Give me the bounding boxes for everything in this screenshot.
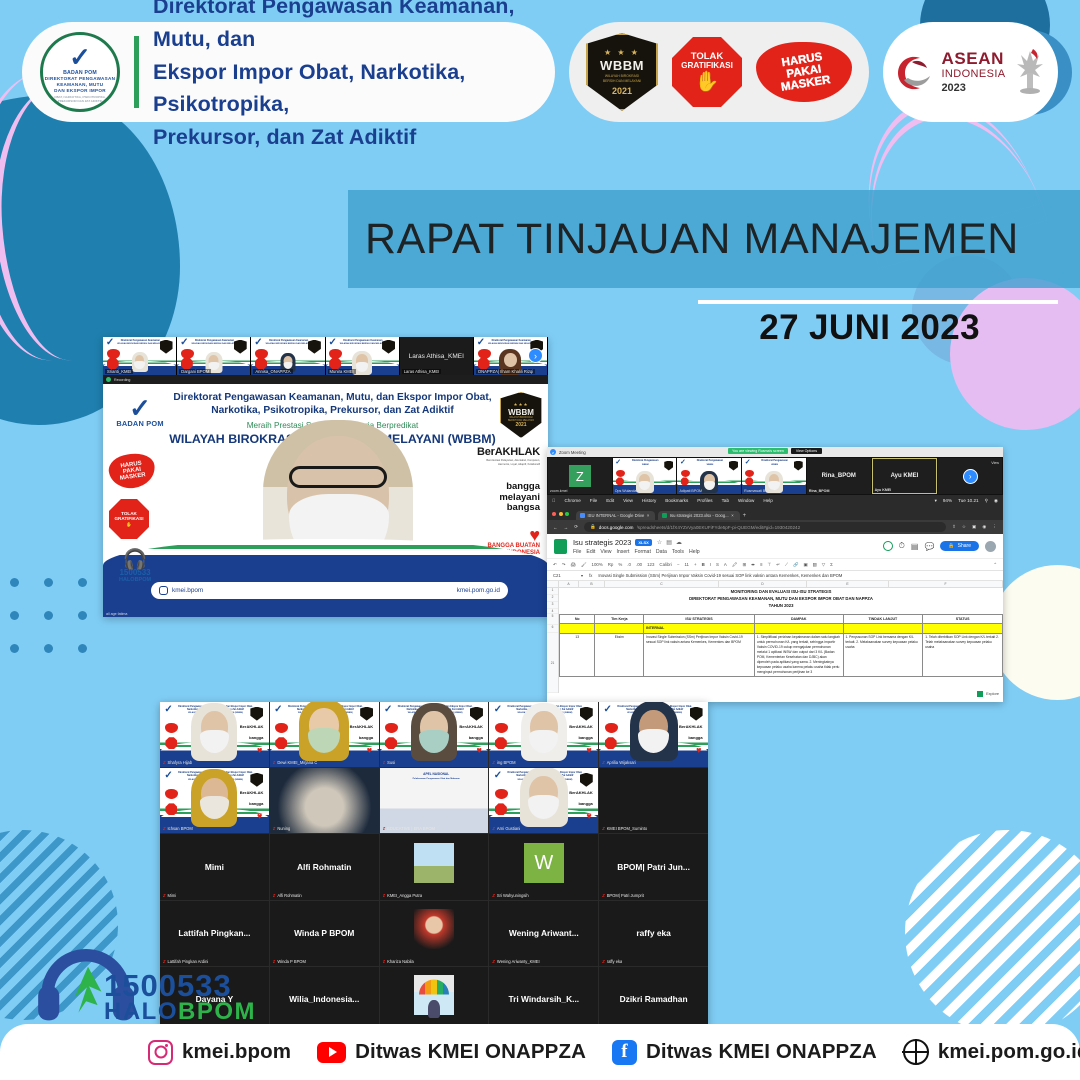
social-instagram[interactable]: kmei.bpom xyxy=(148,1040,291,1065)
asean-text-block: ASEAN INDONESIA 2023 xyxy=(941,50,1005,94)
avatar-letter: W xyxy=(524,843,564,883)
slide-footnote: all age fatima xyxy=(106,612,127,616)
participant-tile-no-video[interactable]: Laras Athisa_KMEI Laras Athisa_KMEI xyxy=(400,337,474,375)
text-wrap-icon[interactable]: ↵ xyxy=(776,562,780,568)
participant-tile-no-video[interactable]: Rina_BPOM Rina_BPOM xyxy=(807,458,871,494)
sheets-menu-tools[interactable]: Tools xyxy=(672,549,684,555)
glasses-icon xyxy=(289,466,387,488)
participant-name: Ayu KMEI xyxy=(875,488,892,492)
participant-tile[interactable]: Direktorat Pengawasan KeamananWILAYAH BI… xyxy=(103,337,177,375)
menu-edit[interactable]: Edit xyxy=(606,498,614,503)
participant-tile[interactable]: Direktorat Pengawasan Keamanan, Mutu, da… xyxy=(489,702,598,767)
participant-tile[interactable]: Direktorat Pengawasan KeamananWILAYAH BI… xyxy=(326,337,400,375)
zoom-gallery-strip: Z zoom.kmei Direktorat PengawasanWBBM✓ O… xyxy=(547,457,1003,495)
sidepanel-icon[interactable]: ▣ xyxy=(972,524,976,530)
avatar[interactable] xyxy=(985,541,996,552)
column-header-a[interactable]: A xyxy=(559,581,579,587)
participant-display-name: Mimi xyxy=(160,834,269,899)
date-rule xyxy=(698,300,1058,304)
explore-button[interactable]: Explore xyxy=(977,691,999,697)
participant-name: Adipati BPOM xyxy=(679,489,702,493)
facebook-handle: Ditwas KMEI ONAPPZA xyxy=(646,1040,877,1064)
harus-pakai-masker-badge-icon: HARUSPAKAIMASKER xyxy=(756,36,852,108)
participant-label: ZEDUCATIVE | ERA BPOM xyxy=(383,826,435,831)
insert-chart-icon[interactable]: ▨ xyxy=(813,562,817,568)
participant-display-name: Lattifah Pingkan... xyxy=(160,901,269,966)
presence-icon xyxy=(883,541,893,551)
participant-label: ZAlfi Rohmatin xyxy=(273,893,302,898)
participant-tile[interactable]: Direktorat Pengawasan Keamanan, Mutu, da… xyxy=(160,768,269,833)
row-header[interactable]: 5 xyxy=(547,614,558,625)
browser-tab[interactable]: ISU INTERNAL - Google Drive × xyxy=(576,511,655,520)
column-header-f[interactable]: F xyxy=(889,581,1003,587)
participant-name: Rusmawati BPOM xyxy=(744,489,773,493)
participant-tile[interactable]: Direktorat Pengawasan Keamanan, Mutu, da… xyxy=(270,702,379,767)
avatar xyxy=(414,909,454,949)
slide-contact-bar: kmei.bpom kmei.pom.go.id xyxy=(151,582,508,599)
explore-icon xyxy=(977,691,983,697)
wbbm-badge-icon: ★ ★ ★ WBBM WILAYAH BIROKRASIBERSIH DAN M… xyxy=(586,33,658,111)
currency-icon[interactable]: Rp xyxy=(608,562,614,567)
participant-name: Srianti_KMEI xyxy=(105,369,133,374)
instagram-icon xyxy=(148,1040,173,1065)
bangga-melayani-bangsa-logo: banggamelayanibangsa xyxy=(470,482,540,514)
header-org-pill: ✓ BADAN POM DIREKTORAT PENGAWASANKEAMANA… xyxy=(22,22,555,122)
sheets-menu-bar: File Edit View Insert Format Data Tools … xyxy=(573,549,700,555)
participant-tile[interactable]: Direktorat PengawasanWBBM✓ Rusmawati BPO… xyxy=(742,458,806,494)
participant-label: ZLattifah Pingkan Ardini xyxy=(163,959,208,964)
badan-pom-logo-icon: ✓ BADAN POM xyxy=(111,398,169,428)
history-icon[interactable]: ⏱ xyxy=(899,541,905,551)
participant-tile-no-video[interactable]: Wilia_Indonesia...ZWilia_Indonesian FDA xyxy=(270,967,379,1032)
zoom-window-titlebar: z Zoom Meeting You are viewing Rusma's s… xyxy=(547,447,1003,457)
halo-number: 1500533 xyxy=(104,971,256,1000)
column-header-b[interactable]: B xyxy=(579,581,605,587)
participant-tile[interactable]: Direktorat PengawasanWBBM✓ Ops Wulandari xyxy=(613,458,677,494)
menu-history[interactable]: History xyxy=(642,498,656,503)
window-controls[interactable] xyxy=(552,512,569,520)
decrease-decimal-icon[interactable]: .0 xyxy=(627,562,631,567)
share-button[interactable]: 🔒 Share xyxy=(940,541,979,551)
functions-icon[interactable]: Σ xyxy=(830,562,833,567)
participant-display-name: Alfi Rohmatin xyxy=(270,834,379,899)
sheet-title-line-2: DIREKTORAT PENGAWASAN KEAMANAN, MUTU DAN… xyxy=(559,595,1003,602)
participant-tile-no-video[interactable]: Lattifah Pingkan...ZLattifah Pingkan Ard… xyxy=(160,901,269,966)
formula-content[interactable]: Inovasi Single Submission (SSm) Perijina… xyxy=(598,573,842,578)
participant-tile-no-video[interactable]: Dzikri RamadhanZDzikri Ramadhan xyxy=(599,967,708,1032)
url-path: /spreadsheets/d/1fX4YZvVya0EKUFiFYde5pF-… xyxy=(637,525,801,530)
share-label: Share xyxy=(958,543,971,549)
menu-help[interactable]: Help xyxy=(763,498,772,503)
page-title: RAPAT TINJAUAN MANAJEMEN xyxy=(348,215,1019,264)
chevron-right-icon[interactable]: › xyxy=(963,469,978,484)
asean-indonesia-pill: ASEAN INDONESIA 2023 xyxy=(883,22,1058,122)
avatar xyxy=(414,843,454,883)
collapse-toolbar-icon[interactable]: ⌃ xyxy=(993,562,997,568)
percent-icon[interactable]: % xyxy=(618,562,622,567)
avatar xyxy=(414,975,454,1015)
heart-icon: ♥ xyxy=(470,528,540,543)
participant-tile[interactable]: Direktorat Pengawasan KeamananWILAYAH BI… xyxy=(251,337,325,375)
participant-label: Zing BPOM xyxy=(492,760,515,765)
row-header[interactable]: 21 xyxy=(547,633,558,693)
sheets-menu-insert[interactable]: Insert xyxy=(616,549,629,555)
undo-icon[interactable]: ↶ xyxy=(553,562,557,568)
participant-tile-no-video[interactable]: MimiZMimi xyxy=(160,834,269,899)
participant-name: Ops Wulandari xyxy=(615,489,639,493)
participant-tile-no-video[interactable]: Wening Ariwant...ZWening Ariwanty_KMEI xyxy=(489,901,598,966)
participant-name: zoom.kmei xyxy=(550,489,567,493)
star-icon[interactable]: ☆ xyxy=(657,539,662,546)
participant-display-name: Winda P BPOM xyxy=(270,901,379,966)
participant-tile-no-video[interactable]: BPOM| Patri Jun...ZBPOM| Patri Jumprit xyxy=(599,834,708,899)
chrome-menu-icon[interactable]: ⋮ xyxy=(992,524,997,530)
participant-tile-avatar[interactable]: ZBPOM_Wydia S xyxy=(380,967,489,1032)
recording-indicator-icon xyxy=(106,377,111,382)
participant-tile[interactable]: Direktorat Pengawasan KeamananWILAYAH BI… xyxy=(474,337,548,375)
participant-label: ZAprilia Wijaksari xyxy=(602,760,636,765)
halo-word: HALOBPOM xyxy=(104,1000,256,1024)
fill-color-icon[interactable]: 🖍 xyxy=(732,562,738,568)
participant-display-name: Wilia_Indonesia... xyxy=(270,967,379,1032)
slide-right-logos: BerAKHLAK Berorientasi Pelayanan, Akunta… xyxy=(470,446,540,556)
participant-display-name: Wening Ariwant... xyxy=(489,901,598,966)
view-label[interactable]: View xyxy=(991,461,999,465)
sheets-menu-data[interactable]: Data xyxy=(656,549,667,555)
harus-pakai-masker-icon: HARUSPAKAIMASKER xyxy=(107,451,157,491)
browser-tab-label: ISU INTERNAL - Google Drive xyxy=(588,513,645,518)
lock-icon: 🔒 xyxy=(590,524,596,530)
forward-icon[interactable]: → xyxy=(564,525,569,530)
th-no: No xyxy=(560,615,595,624)
sheets-icon xyxy=(662,513,667,518)
participant-tile[interactable]: Z zoom.kmei xyxy=(548,458,612,494)
sheets-header-actions: ⏱ ▤ 💬 🔒 Share xyxy=(883,541,996,552)
participant-display-name: Dzikri Ramadhan xyxy=(599,967,708,1032)
participant-label: ZKMEI BPOM_Suminto xyxy=(602,826,647,831)
new-tab-button[interactable]: + xyxy=(743,513,747,520)
participant-tile-avatar[interactable]: WZSri Wahyuningsih xyxy=(489,834,598,899)
participant-tile[interactable]: Direktorat PengawasanWBBM✓ Adipati BPOM xyxy=(677,458,741,494)
row-headers: 1 2 3 4 5 6 21 xyxy=(547,588,559,693)
participant-label: ZShafyra Hijab xyxy=(163,760,192,765)
participant-tile-avatar[interactable]: ZKhariza Nabila xyxy=(380,901,489,966)
slides-icon[interactable]: ▤ xyxy=(911,542,919,551)
participant-display-name: Rina_BPOM xyxy=(822,473,856,479)
participant-tile-no-video[interactable]: Alfi RohmatinZAlfi Rohmatin xyxy=(270,834,379,899)
valign-icon[interactable]: ⊤ xyxy=(767,562,771,568)
paint-format-icon[interactable]: 🖌 xyxy=(581,562,587,568)
social-facebook[interactable]: f Ditwas KMEI ONAPPZA xyxy=(612,1040,877,1065)
event-date: 27 JUNI 2023 xyxy=(759,308,980,348)
menu-view[interactable]: View xyxy=(623,498,633,503)
participant-tile[interactable]: APEL NASIONALPelaksanaan Pengawasan Obat… xyxy=(380,768,489,833)
participant-tile-no-video[interactable]: Tri Windarsih_K...Tri Windarsih_KMEI xyxy=(489,967,598,1032)
social-website[interactable]: kmei.pom.go.id xyxy=(903,1039,1080,1065)
increase-decimal-icon[interactable]: .00 xyxy=(636,562,642,567)
link-icon[interactable]: 🔗 xyxy=(793,562,798,568)
cell-isu-strategis[interactable]: Inovasi Single Submission (SSm) Perijina… xyxy=(644,633,755,677)
font-size[interactable]: 11 xyxy=(684,562,689,567)
row-header[interactable]: 6 xyxy=(547,625,558,633)
asean-label: ASEAN xyxy=(941,50,1005,67)
org-title-line-3: Prekursor, dan Zat Adiktif xyxy=(153,121,537,154)
cell-reference[interactable]: C21 xyxy=(553,573,575,578)
back-icon[interactable]: ← xyxy=(553,525,558,530)
participant-tile[interactable]: Direktorat Pengawasan Keamanan, Mutu, da… xyxy=(489,768,598,833)
badan-pom-seal-icon: ✓ BADAN POM DIREKTORAT PENGAWASANKEAMANA… xyxy=(40,32,120,112)
halo-word-b: BPOM xyxy=(178,998,256,1025)
participant-label: Zraffy eka xyxy=(602,959,622,964)
participant-tile-no-video[interactable]: ZKMEI BPOM_Suminto xyxy=(599,768,708,833)
fx-icon: fx xyxy=(589,573,592,578)
halobpom-logo: 🎧 1500533 HALOBPOM xyxy=(119,552,151,583)
participant-tile[interactable]: ZNuning xyxy=(270,768,379,833)
participant-display-name: raffy eka xyxy=(599,901,708,966)
participant-display-name: Ayu KMEI xyxy=(891,473,919,479)
cell-tim-kerja[interactable]: Eksim xyxy=(595,633,644,677)
table-row[interactable]: 13 Eksim Inovasi Single Submission (SSm)… xyxy=(560,633,1003,677)
seal-line-3: OBAT, NARKOTIKA, PSIKOTROPIKA,PREKURSOR … xyxy=(54,96,105,104)
filter-icon[interactable]: ▽ xyxy=(822,562,825,568)
th-isu-strategis: ISU STRATEGIS xyxy=(644,615,755,624)
move-icon[interactable]: ▤ xyxy=(666,539,672,546)
asean-year: 2023 xyxy=(941,82,1005,94)
name-box-caret-icon[interactable]: ▾ xyxy=(581,573,583,578)
sheets-menu-view[interactable]: View xyxy=(600,549,611,555)
participant-label: ZNuning xyxy=(273,826,291,831)
participant-tile-avatar[interactable]: ZKMEI_Angga Putra xyxy=(380,834,489,899)
header-bar: ✓ BADAN POM DIREKTORAT PENGAWASANKEAMANA… xyxy=(22,22,1058,122)
instagram-icon xyxy=(159,586,168,595)
tolak-line-2: GRATIFIKASI xyxy=(681,62,733,71)
wbbm-label: WBBM xyxy=(508,408,534,417)
document-format-badge: XLSX xyxy=(635,539,651,546)
spreadsheet-grid[interactable]: A B C D E F 1 2 3 4 5 6 21 MONITORING DA… xyxy=(547,581,1003,699)
title-band: RAPAT TINJAUAN MANAJEMEN xyxy=(348,190,1080,288)
facebook-icon: f xyxy=(612,1040,637,1065)
shared-screen-area: Recording ✓ BADAN POM ★★★ WBBM WILAYAH B… xyxy=(103,375,548,617)
gallery-next-tile[interactable]: › View xyxy=(938,458,1002,494)
th-tim-kerja: Tim Kerja xyxy=(595,615,644,624)
zoom-level[interactable]: 100% xyxy=(592,562,603,567)
menu-window[interactable]: Window xyxy=(738,498,754,503)
org-title-line-2: Ekspor Impor Obat, Narkotika, Psikotropi… xyxy=(153,56,537,121)
sheets-menu-file[interactable]: File xyxy=(573,549,581,555)
sheets-icon xyxy=(554,539,567,554)
menu-profiles[interactable]: Profiles xyxy=(697,498,712,503)
cell-status[interactable]: 1. Telah diterbitkan SOP Link dengan K/L… xyxy=(923,633,1003,677)
youtube-icon xyxy=(317,1042,346,1063)
asean-logo-icon xyxy=(894,53,934,91)
participant-tile-active-speaker[interactable]: Ayu KMEI Ayu KMEI xyxy=(872,458,938,494)
wbbm-year: 2021 xyxy=(612,86,632,96)
participant-name: Dargani BPOM xyxy=(179,369,211,374)
berakhlak-logo: BerAKHLAK xyxy=(470,446,540,458)
close-icon[interactable]: × xyxy=(647,513,649,518)
slide-instagram-handle: kmei.bpom xyxy=(172,587,203,594)
merge-cells-icon[interactable]: ⬌ xyxy=(751,562,755,568)
menu-file[interactable]: File xyxy=(590,498,597,503)
screenshot-google-sheets[interactable]: z Zoom Meeting You are viewing Rusma's s… xyxy=(547,447,1003,702)
raised-hand-icon: ✋ xyxy=(695,72,720,92)
search-icon[interactable]: ⚲ xyxy=(985,498,988,504)
column-header-e[interactable]: E xyxy=(807,581,889,587)
menu-tab[interactable]: Tab xyxy=(722,498,729,503)
text-color-icon[interactable]: A xyxy=(724,562,727,567)
participant-name: Laras Athisa_KMEI xyxy=(402,369,442,374)
browser-tab[interactable]: Isu strategis 2023.xlsx - Goog... × xyxy=(658,511,739,520)
comment-icon[interactable]: 💬 xyxy=(924,542,934,551)
header-divider xyxy=(134,36,139,108)
participant-tile[interactable]: Direktorat Pengawasan Keamanan, Mutu, da… xyxy=(599,702,708,767)
presentation-slide: ✓ BADAN POM ★★★ WBBM WILAYAH BIROKRASIBE… xyxy=(103,384,548,617)
participant-tile-no-video[interactable]: Winda P BPOMZWinda P BPOM xyxy=(270,901,379,966)
avatar[interactable]: ◉ xyxy=(982,524,986,530)
battery-percent: 94% xyxy=(943,498,952,503)
reload-icon[interactable]: ⟳ xyxy=(574,524,578,530)
slide-left-logos: HARUSPAKAIMASKER TOLAKGRATIFIKASI✋ xyxy=(109,454,163,539)
increase-font-icon[interactable]: + xyxy=(694,562,697,567)
th-tindak-lanjut: TINDAK LANJUT xyxy=(843,615,923,624)
chrome-toolbar: ← → ⟳ 🔒 docs.google.com /spreadsheets/d/… xyxy=(547,520,1003,534)
badan-pom-label: BADAN POM xyxy=(111,419,169,428)
sheets-menu-format[interactable]: Format xyxy=(634,549,650,555)
participant-name: ONAPPZA| Ilham Khalili Rizqi xyxy=(476,369,535,374)
column-header-d[interactable]: D xyxy=(719,581,807,587)
checkmark-icon: ✓ xyxy=(111,398,169,419)
bookmark-star-icon[interactable]: ☆ xyxy=(962,524,966,530)
recording-label: Recording xyxy=(114,378,130,382)
halo-word: HALOBPOM xyxy=(119,577,151,583)
control-center-icon[interactable]: ◉ xyxy=(994,498,998,504)
close-icon[interactable]: × xyxy=(731,513,733,518)
italic-icon[interactable]: I xyxy=(710,562,711,567)
slide-website: kmei.pom.go.id xyxy=(457,587,500,594)
formula-bar: C21 ▾ fx Inovasi Single Submission (SSm)… xyxy=(547,570,1003,581)
strikethrough-icon[interactable]: S xyxy=(716,562,719,567)
halo-word-a: HALO xyxy=(104,998,178,1025)
participant-label: ZSusi xyxy=(383,760,395,765)
print-icon[interactable]: 🖨 xyxy=(570,562,576,568)
mac-status-area: ▾ 94% Tue 10.21 ⚲ ◉ xyxy=(935,498,998,504)
asean-country: INDONESIA xyxy=(941,67,1005,82)
header-badges-pill: ★ ★ ★ WBBM WILAYAH BIROKRASIBERSIH DAN M… xyxy=(569,22,869,122)
address-bar[interactable]: 🔒 docs.google.com /spreadsheets/d/1fX4YZ… xyxy=(584,522,946,532)
column-header-c[interactable]: C xyxy=(605,581,719,587)
bold-icon[interactable]: B xyxy=(702,562,705,567)
redo-icon[interactable]: ↷ xyxy=(562,562,566,568)
participant-tile[interactable]: Direktorat Pengawasan KeamananWILAYAH BI… xyxy=(177,337,251,375)
zoom-window-title: Zoom Meeting xyxy=(559,450,586,455)
sheet-title-line-1: MONITORING DAN EVALUASI ISU-ISU STRATEGI… xyxy=(559,588,1003,595)
zoom-app-icon: z xyxy=(550,449,556,455)
font-family[interactable]: Calibri xyxy=(659,562,671,567)
cell-no[interactable]: 13 xyxy=(560,633,595,677)
wbbm-label: WBBM xyxy=(600,58,644,73)
wbbm-stars: ★ ★ ★ xyxy=(604,48,640,57)
next-page-arrow-icon[interactable]: › xyxy=(528,348,543,363)
participant-label: ZBPOM| Patri Jumprit xyxy=(602,893,644,898)
row-header[interactable]: 2 xyxy=(547,595,558,602)
participant-name: Munira KMEI xyxy=(328,369,356,374)
document-title[interactable]: Isu strategis 2023 xyxy=(573,538,631,547)
cell-dampak[interactable]: 1. Simplifikasi perizinan kepabeanan dal… xyxy=(754,633,843,677)
headphone-icon: 🎧 xyxy=(119,552,151,568)
sheets-menu-help[interactable]: Help xyxy=(689,549,700,555)
globe-icon xyxy=(903,1039,929,1065)
circle-cream xyxy=(990,565,1080,700)
participant-tile[interactable]: Direktorat Pengawasan Keamanan, Mutu, da… xyxy=(160,702,269,767)
striped-circle-bottom-right xyxy=(905,830,1080,1035)
strategic-issues-table: No Tim Kerja ISU STRATEGIS DAMPAK TINDAK… xyxy=(559,614,1003,677)
decrease-font-icon[interactable]: − xyxy=(677,562,680,567)
mac-menu-bar:  Chrome File Edit View History Bookmark… xyxy=(547,495,1003,506)
checkmark-icon: ✓ xyxy=(69,44,91,70)
participant-tile[interactable]: Direktorat Pengawasan Keamanan, Mutu, da… xyxy=(380,702,489,767)
asean-mascot-icon xyxy=(1013,47,1047,97)
org-title-line-1: Direktorat Pengawasan Keamanan, Mutu, da… xyxy=(153,0,537,56)
wifi-icon[interactable]: ▾ xyxy=(935,498,937,504)
masker-label: HARUSPAKAIMASKER xyxy=(777,50,832,94)
wbbm-sublabel: WILAYAH BIROKRASIBERSIH DAN MELAYANI xyxy=(603,74,641,84)
row-header[interactable]: 1 xyxy=(547,588,558,595)
participant-label: ZIchsan BPOM xyxy=(163,826,193,831)
browser-tab-label: Isu strategis 2023.xlsx - Goog... xyxy=(670,513,729,518)
share-icon[interactable]: ⇧ xyxy=(952,524,956,530)
halo-number: 1500533 xyxy=(119,568,151,577)
insert-comment-icon[interactable]: ▣ xyxy=(803,562,807,568)
participant-label: ZKhariza Nabila xyxy=(383,959,414,964)
sheets-menu-edit[interactable]: Edit xyxy=(586,549,595,555)
table-header-row: No Tim Kerja ISU STRATEGIS DAMPAK TINDAK… xyxy=(560,615,1003,624)
slide-org-line: Direktorat Pengawasan Keamanan, Mutu, da… xyxy=(165,391,500,418)
menu-bookmarks[interactable]: Bookmarks xyxy=(665,498,688,503)
tolak-gratifikasi-badge-icon: TOLAK GRATIFIKASI ✋ xyxy=(672,37,742,107)
participant-label: ZSri Wahyuningsih xyxy=(492,893,528,898)
avatar-letter: Z xyxy=(569,465,591,487)
participant-label: ZKMEI_Angga Putra xyxy=(383,893,423,898)
dot-grid xyxy=(10,578,112,677)
cloud-icon: ☁ xyxy=(676,539,682,546)
sheet-title-line-3: TAHUN 2023 xyxy=(559,602,1003,609)
participant-tile-no-video[interactable]: raffy ekaZraffy eka xyxy=(599,901,708,966)
zoom-participant-strip: Direktorat Pengawasan KeamananWILAYAH BI… xyxy=(103,337,548,375)
view-options-button[interactable]: View Options xyxy=(791,448,822,454)
row-header[interactable]: 3 xyxy=(547,602,558,609)
tolak-gratifikasi-icon: TOLAKGRATIFIKASI✋ xyxy=(109,499,149,539)
participant-label: ZWinda P BPOM xyxy=(273,959,306,964)
lock-icon: 🔒 xyxy=(948,543,954,549)
borders-icon[interactable]: ⊞ xyxy=(742,562,746,568)
viewing-screen-label: You are viewing Rusma's screen xyxy=(728,448,788,454)
more-formats-icon[interactable]: 123 xyxy=(647,562,654,567)
th-dampak: DAMPAK xyxy=(754,615,843,624)
align-icon[interactable]: ≡ xyxy=(760,562,763,567)
screenshot-zoom-presentation[interactable]: Direktorat Pengawasan KeamananWILAYAH BI… xyxy=(103,337,548,617)
social-youtube[interactable]: Ditwas KMEI ONAPPZA xyxy=(317,1040,586,1064)
sheets-toolbar: ↶ ↷ 🖨 🖌 100% Rp % .0 .00 123 Calibri − 1… xyxy=(547,558,1003,570)
participant-display-name: Tri Windarsih_K... xyxy=(489,967,598,1032)
participant-name: Rina_BPOM xyxy=(809,489,830,493)
website-url: kmei.pom.go.id xyxy=(938,1040,1080,1064)
text-rotation-icon[interactable]: ⟋ xyxy=(785,562,788,567)
menu-chrome[interactable]: Chrome xyxy=(564,498,580,503)
participant-label: ZMimi xyxy=(163,893,176,898)
menu-apple-icon[interactable]:  xyxy=(552,498,555,503)
youtube-handle: Ditwas KMEI ONAPPZA xyxy=(355,1040,586,1064)
cell-tindak-lanjut[interactable]: 1. Penyusunan SOP Link bersama dengan K/… xyxy=(843,633,923,677)
